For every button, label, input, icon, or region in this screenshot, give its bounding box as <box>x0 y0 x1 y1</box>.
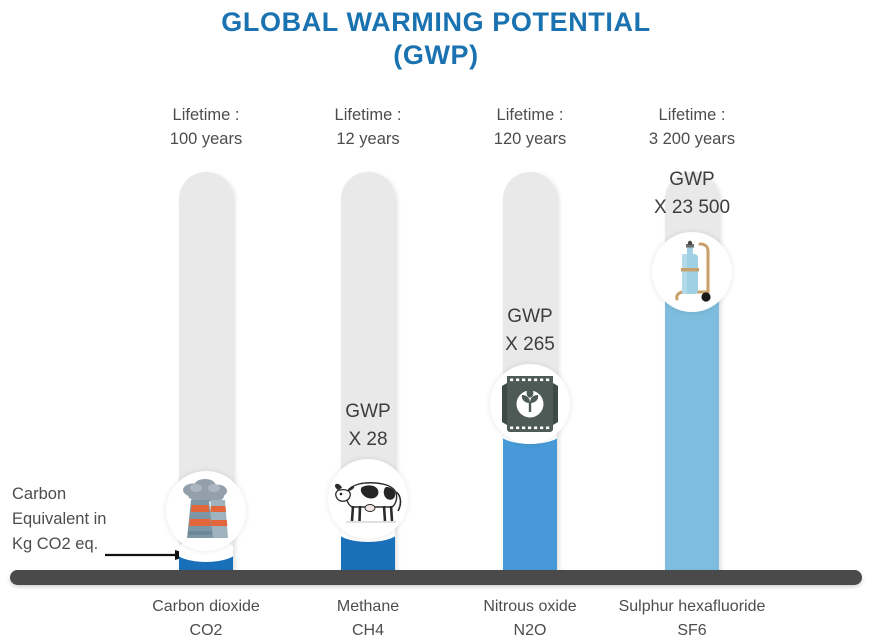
lifetime-label-ch4: Lifetime : <box>335 106 402 124</box>
species-sf6: Sulphur hexafluoride SF6 <box>602 595 782 643</box>
species-ch4: Methane CH4 <box>278 595 458 643</box>
gwp-callout-ch4: GWP X 28 <box>288 398 448 454</box>
column-n2o: Lifetime : 120 years GWP X 265 <box>450 0 610 643</box>
species-name-n2o: Nitrous oxide <box>483 598 576 615</box>
gwp-value-n2o: X 265 <box>450 331 610 359</box>
icon-bubble-sf6[interactable] <box>652 232 732 312</box>
icon-bubble-ch4[interactable] <box>328 459 408 539</box>
lifetime-value-sf6: 3 200 years <box>612 127 772 151</box>
fertilizer-bag-icon <box>499 372 561 436</box>
species-name-co2: Carbon dioxide <box>152 598 260 615</box>
species-name-sf6: Sulphur hexafluoride <box>619 598 766 615</box>
species-n2o: Nitrous oxide N2O <box>440 595 620 643</box>
species-name-ch4: Methane <box>337 598 399 615</box>
gas-cylinder-trolley-icon <box>662 238 722 306</box>
lifetime-label-sf6: Lifetime : <box>659 106 726 124</box>
lifetime-label-n2o: Lifetime : <box>497 106 564 124</box>
tube-fill-sf6 <box>665 295 719 573</box>
gwp-callout-n2o: GWP X 265 <box>450 303 610 359</box>
icon-bubble-co2[interactable] <box>166 471 246 551</box>
gwp-value-ch4: X 28 <box>288 426 448 454</box>
gwp-value-sf6: X 23 500 <box>612 194 772 222</box>
lifetime-sf6: Lifetime : 3 200 years <box>612 103 772 151</box>
lifetime-co2: Lifetime : 100 years <box>126 103 286 151</box>
species-formula-sf6: SF6 <box>602 619 782 643</box>
species-formula-co2: CO2 <box>116 619 296 643</box>
tube-fill-n2o <box>503 433 557 573</box>
smokestack-icon <box>169 474 243 548</box>
lifetime-label-co2: Lifetime : <box>173 106 240 124</box>
lifetime-n2o: Lifetime : 120 years <box>450 103 610 151</box>
baseline-ground-bar <box>10 570 862 585</box>
gwp-label-ch4: GWP <box>345 401 390 422</box>
column-ch4: Lifetime : 12 years GWP X 28 <box>288 0 448 643</box>
species-formula-ch4: CH4 <box>278 619 458 643</box>
cow-icon <box>332 471 404 527</box>
lifetime-value-ch4: 12 years <box>288 127 448 151</box>
column-sf6: Lifetime : 3 200 years GWP X 23 500 <box>612 0 772 643</box>
infographic-canvas: GLOBAL WARMING POTENTIAL (GWP) Carbon Eq… <box>0 0 872 643</box>
species-formula-n2o: N2O <box>440 619 620 643</box>
lifetime-ch4: Lifetime : 12 years <box>288 103 448 151</box>
lifetime-value-n2o: 120 years <box>450 127 610 151</box>
gwp-label-sf6: GWP <box>669 169 714 190</box>
column-co2: Lifetime : 100 years <box>126 0 286 643</box>
icon-bubble-n2o[interactable] <box>490 364 570 444</box>
lifetime-value-co2: 100 years <box>126 127 286 151</box>
gwp-callout-sf6: GWP X 23 500 <box>612 166 772 222</box>
species-co2: Carbon dioxide CO2 <box>116 595 296 643</box>
gwp-label-n2o: GWP <box>507 306 552 327</box>
